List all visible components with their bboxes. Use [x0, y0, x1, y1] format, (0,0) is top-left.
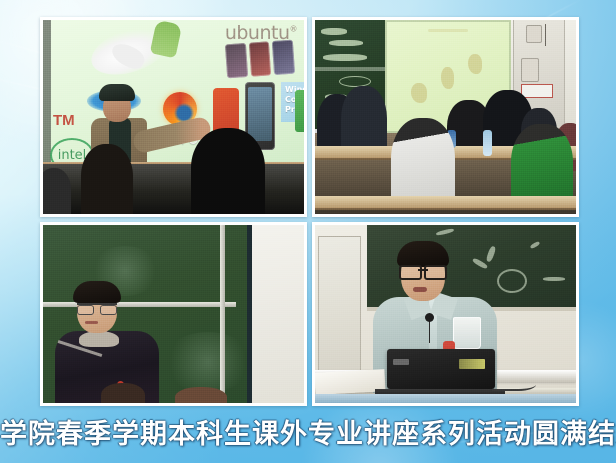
water-bottle [483, 130, 492, 156]
chalk-writing [530, 241, 541, 249]
wall-device [526, 25, 542, 43]
desk-row [315, 196, 576, 210]
photo-bottom-left [40, 222, 307, 406]
power-cord [492, 375, 536, 391]
audience-silhouette [191, 128, 265, 214]
slide-canvas: ubuntu® TM intel Firefox OS Windows 8 Co… [0, 0, 616, 463]
student-figure [55, 281, 163, 401]
photo-top-right-scene [315, 20, 576, 214]
wall-cable [545, 24, 546, 46]
photo-bottom-left-scene [43, 225, 304, 403]
presenter-cap [99, 84, 135, 101]
chalk-writing [436, 228, 454, 236]
chalk-writing [497, 269, 527, 293]
glasses-bridge [418, 269, 428, 271]
chalkboard-divider [220, 225, 225, 403]
registered-mark: ® [290, 25, 298, 34]
foreground-head [101, 383, 145, 403]
audience-silhouette [81, 144, 133, 214]
student-mouth [85, 321, 98, 324]
classroom-door [318, 236, 362, 377]
lecturer-mouth [413, 287, 427, 292]
student-collar [79, 331, 119, 347]
student-hair [73, 281, 121, 303]
laptop-sticker [459, 359, 485, 369]
tm-logo: TM [53, 112, 75, 129]
microphone-cord [429, 321, 430, 343]
classroom-wall [252, 225, 304, 403]
laptop-device [387, 349, 495, 389]
page-title: 学院春季学期本科生课外专业讲座系列活动圆满结束 [0, 412, 616, 451]
projection-content [468, 54, 482, 74]
laptop-logo [393, 359, 409, 365]
photo-collage: ubuntu® TM intel Firefox OS Windows 8 Co… [40, 17, 579, 406]
projection-content [441, 67, 454, 89]
photo-top-left: ubuntu® TM intel Firefox OS Windows 8 Co… [40, 17, 307, 217]
chalkboard-smudge [163, 332, 253, 392]
photo-bottom-right-scene [315, 225, 576, 403]
ubuntu-phones-graphic [225, 40, 295, 79]
podium-front [315, 394, 576, 403]
audience-silhouette [43, 168, 71, 214]
photo-top-left-scene: ubuntu® TM intel Firefox OS Windows 8 Co… [43, 20, 304, 214]
water-cup [453, 317, 481, 349]
chalk-writing [323, 54, 367, 61]
projection-content [411, 83, 427, 103]
chalk-writing [543, 277, 565, 281]
lecturer-hair [397, 241, 449, 267]
photo-bottom-right [312, 222, 579, 406]
phone-graphic [295, 90, 304, 132]
wall-sign [521, 84, 553, 98]
foreground-head [175, 387, 227, 403]
wall-device [521, 58, 539, 82]
glasses-icon [77, 303, 117, 313]
chalk-writing [321, 28, 347, 35]
chalk-writing [329, 40, 363, 46]
microphone-icon [425, 313, 434, 322]
photo-top-right [312, 17, 579, 217]
projection-content [428, 29, 468, 32]
